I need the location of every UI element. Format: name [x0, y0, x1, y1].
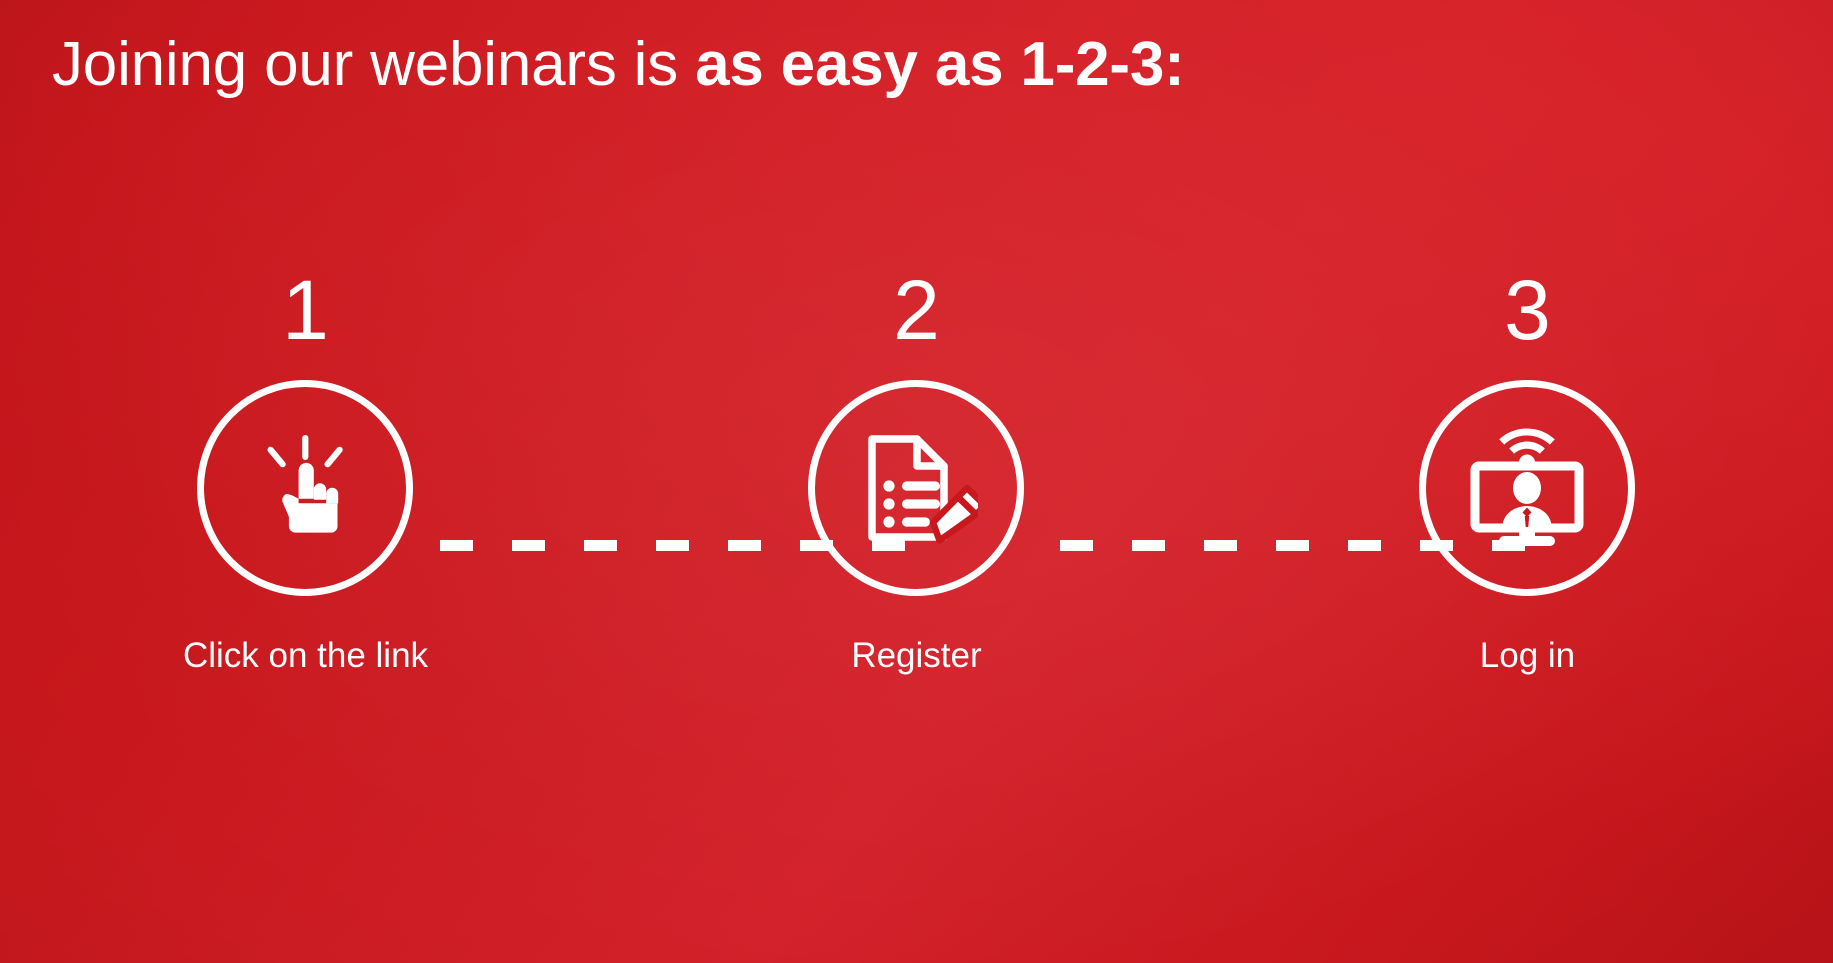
webinar-steps-banner: Joining our webinars is as easy as 1-2-3…	[0, 0, 1833, 963]
step-1[interactable]: 1	[0, 268, 611, 688]
step-3-circle[interactable]	[1419, 380, 1635, 596]
page-title-light-text: Joining our webinars is	[52, 30, 695, 99]
page-title: Joining our webinars is as easy as 1-2-3…	[52, 33, 1185, 97]
click-hand-icon	[246, 429, 364, 547]
document-form-pencil-icon	[854, 426, 978, 550]
steps-row: 1	[0, 268, 1833, 688]
step-2-number: 2	[893, 268, 940, 364]
step-1-number: 1	[282, 268, 329, 364]
step-2[interactable]: 2	[611, 268, 1222, 688]
step-3-number: 3	[1504, 268, 1551, 364]
monitor-person-wifi-icon	[1461, 426, 1593, 550]
step-3[interactable]: 3	[1222, 268, 1833, 688]
step-2-circle[interactable]	[808, 380, 1024, 596]
step-2-label: Register	[851, 638, 981, 673]
step-1-circle[interactable]	[197, 380, 413, 596]
page-title-bold-text: as easy as 1-2-3:	[695, 30, 1185, 99]
step-3-label: Log in	[1480, 638, 1575, 673]
step-1-label: Click on the link	[183, 638, 428, 673]
